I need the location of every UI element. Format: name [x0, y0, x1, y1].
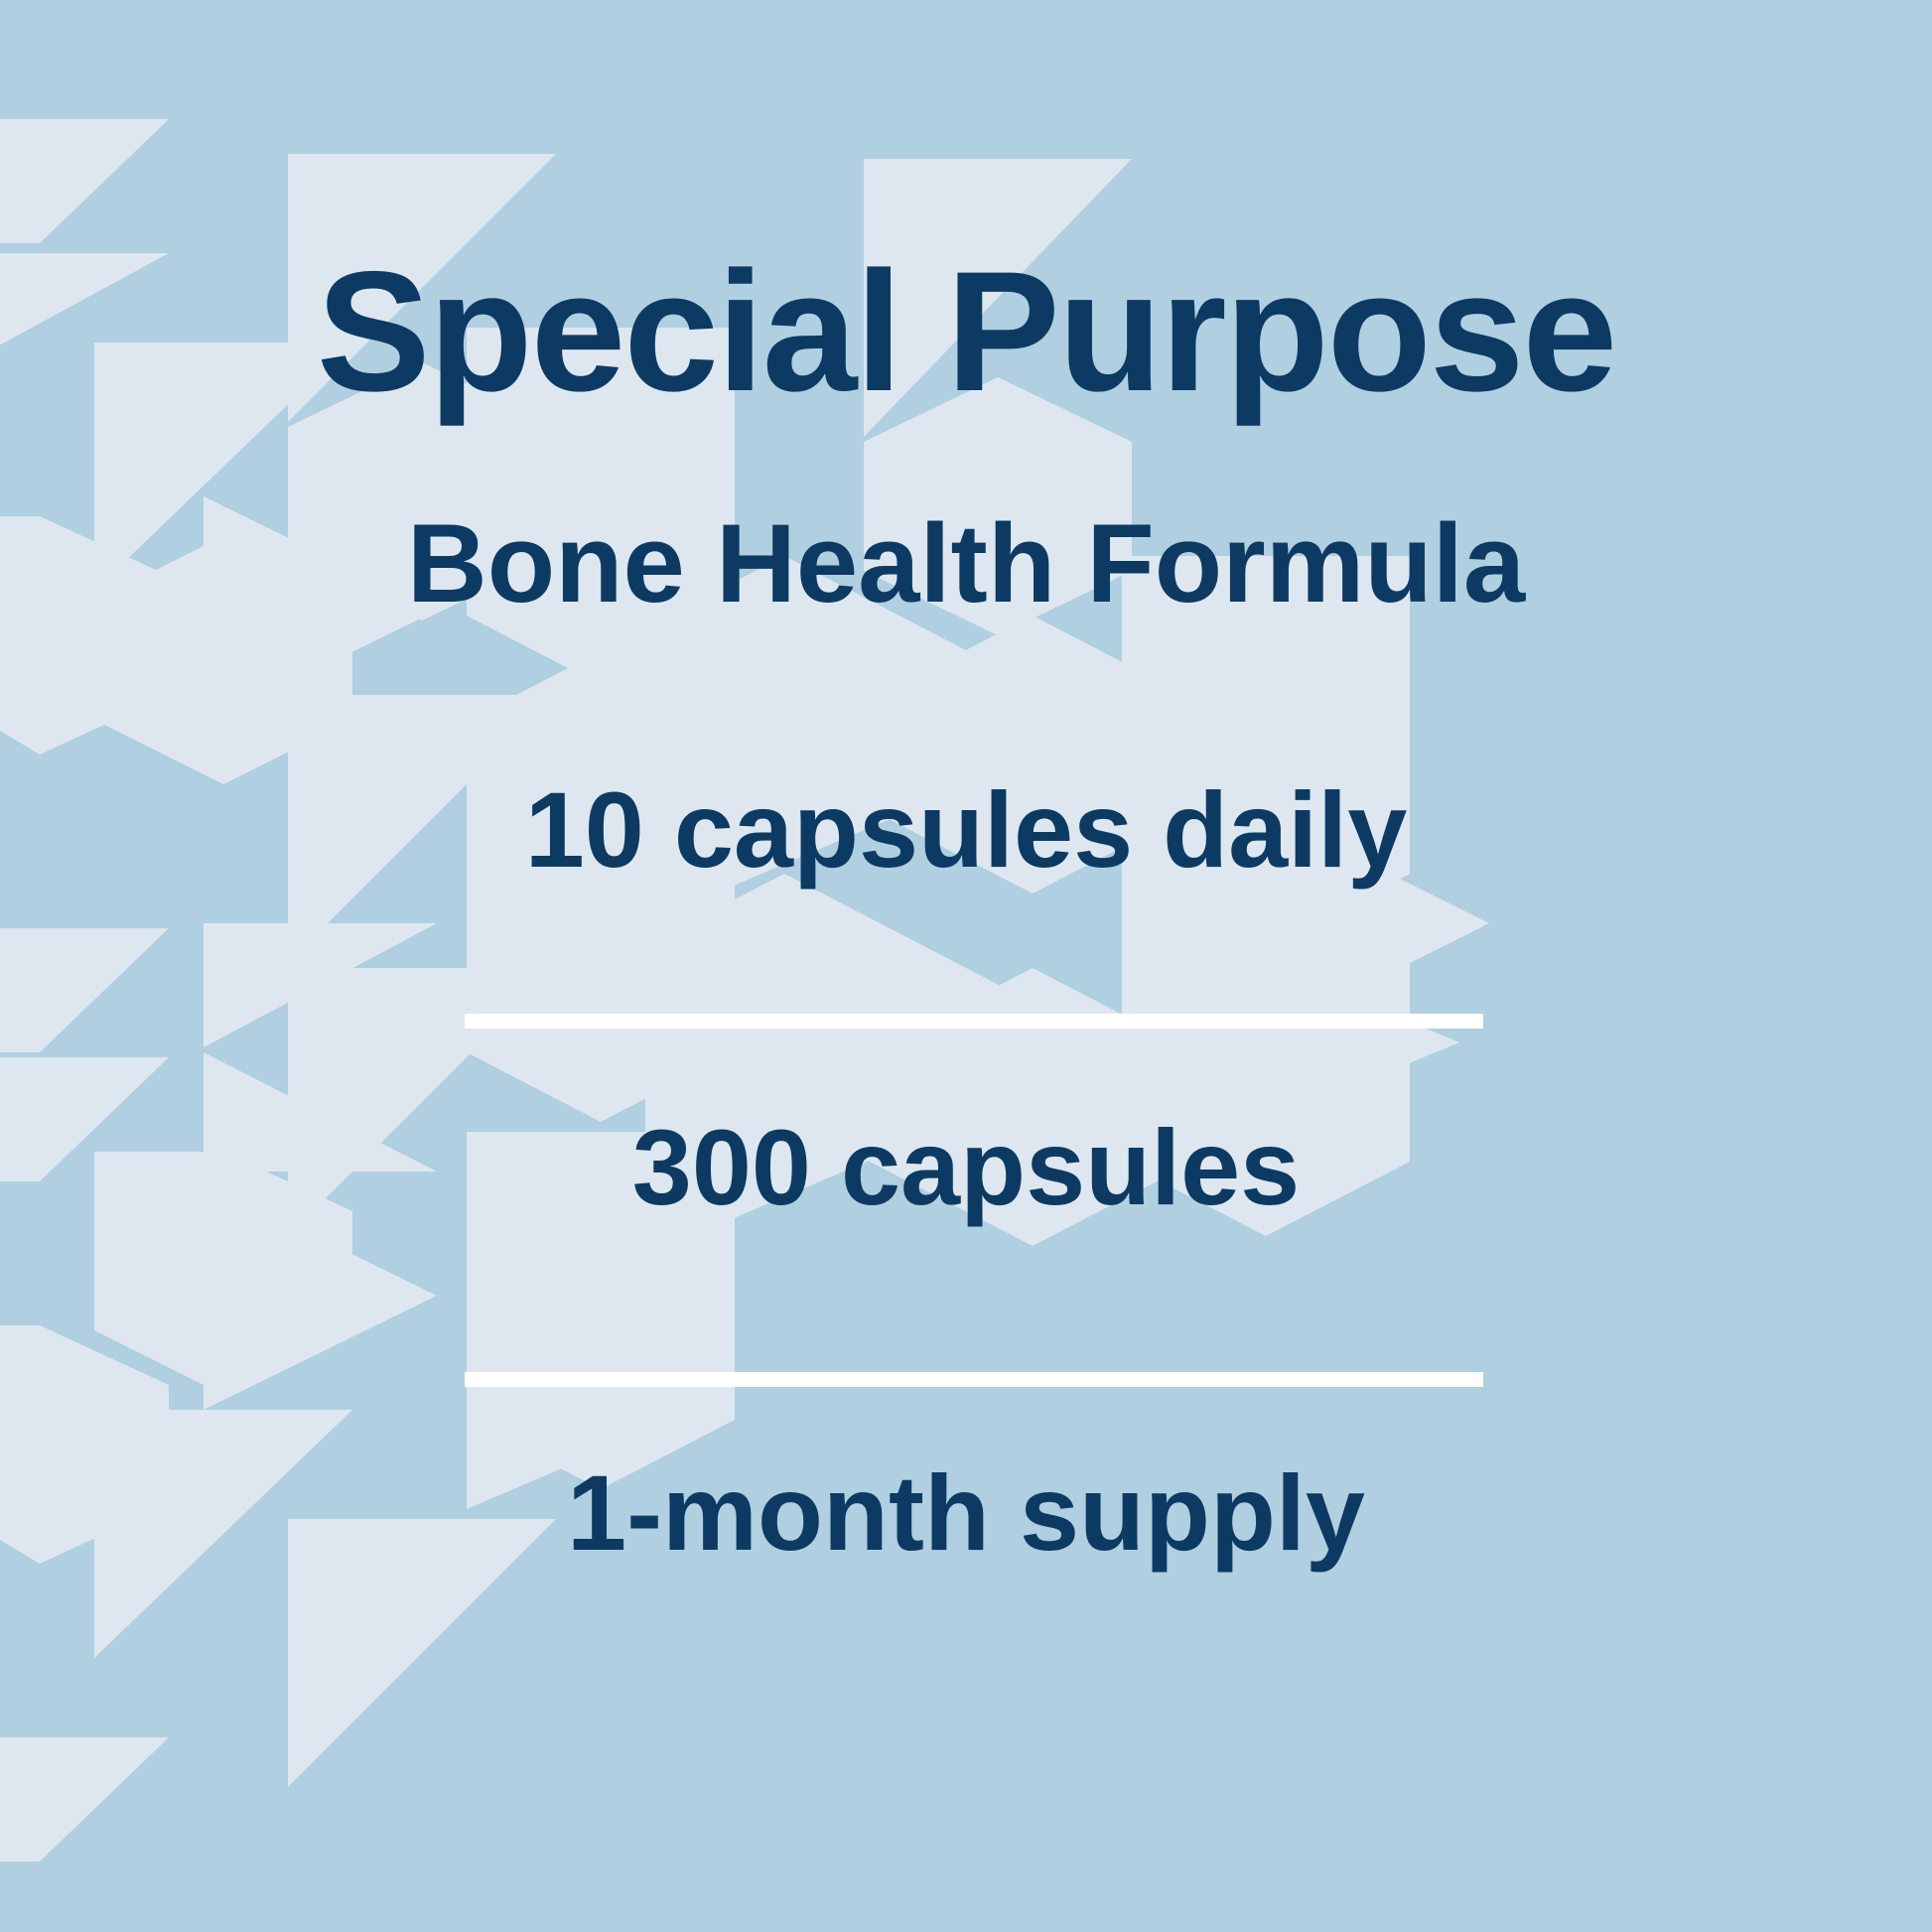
page-title: Special Purpose	[0, 246, 1932, 417]
fact-count: 300 capsules	[0, 1114, 1932, 1221]
divider-line-1	[465, 1014, 1483, 1029]
divider-line-2	[465, 1372, 1483, 1387]
text-content: Special Purpose Bone Health Formula 10 c…	[0, 0, 1932, 1932]
fact-dosage: 10 capsules daily	[0, 776, 1932, 884]
fact-supply: 1-month supply	[0, 1459, 1932, 1567]
product-info-card: Special Purpose Bone Health Formula 10 c…	[0, 0, 1932, 1932]
page-subtitle: Bone Health Formula	[0, 508, 1932, 620]
